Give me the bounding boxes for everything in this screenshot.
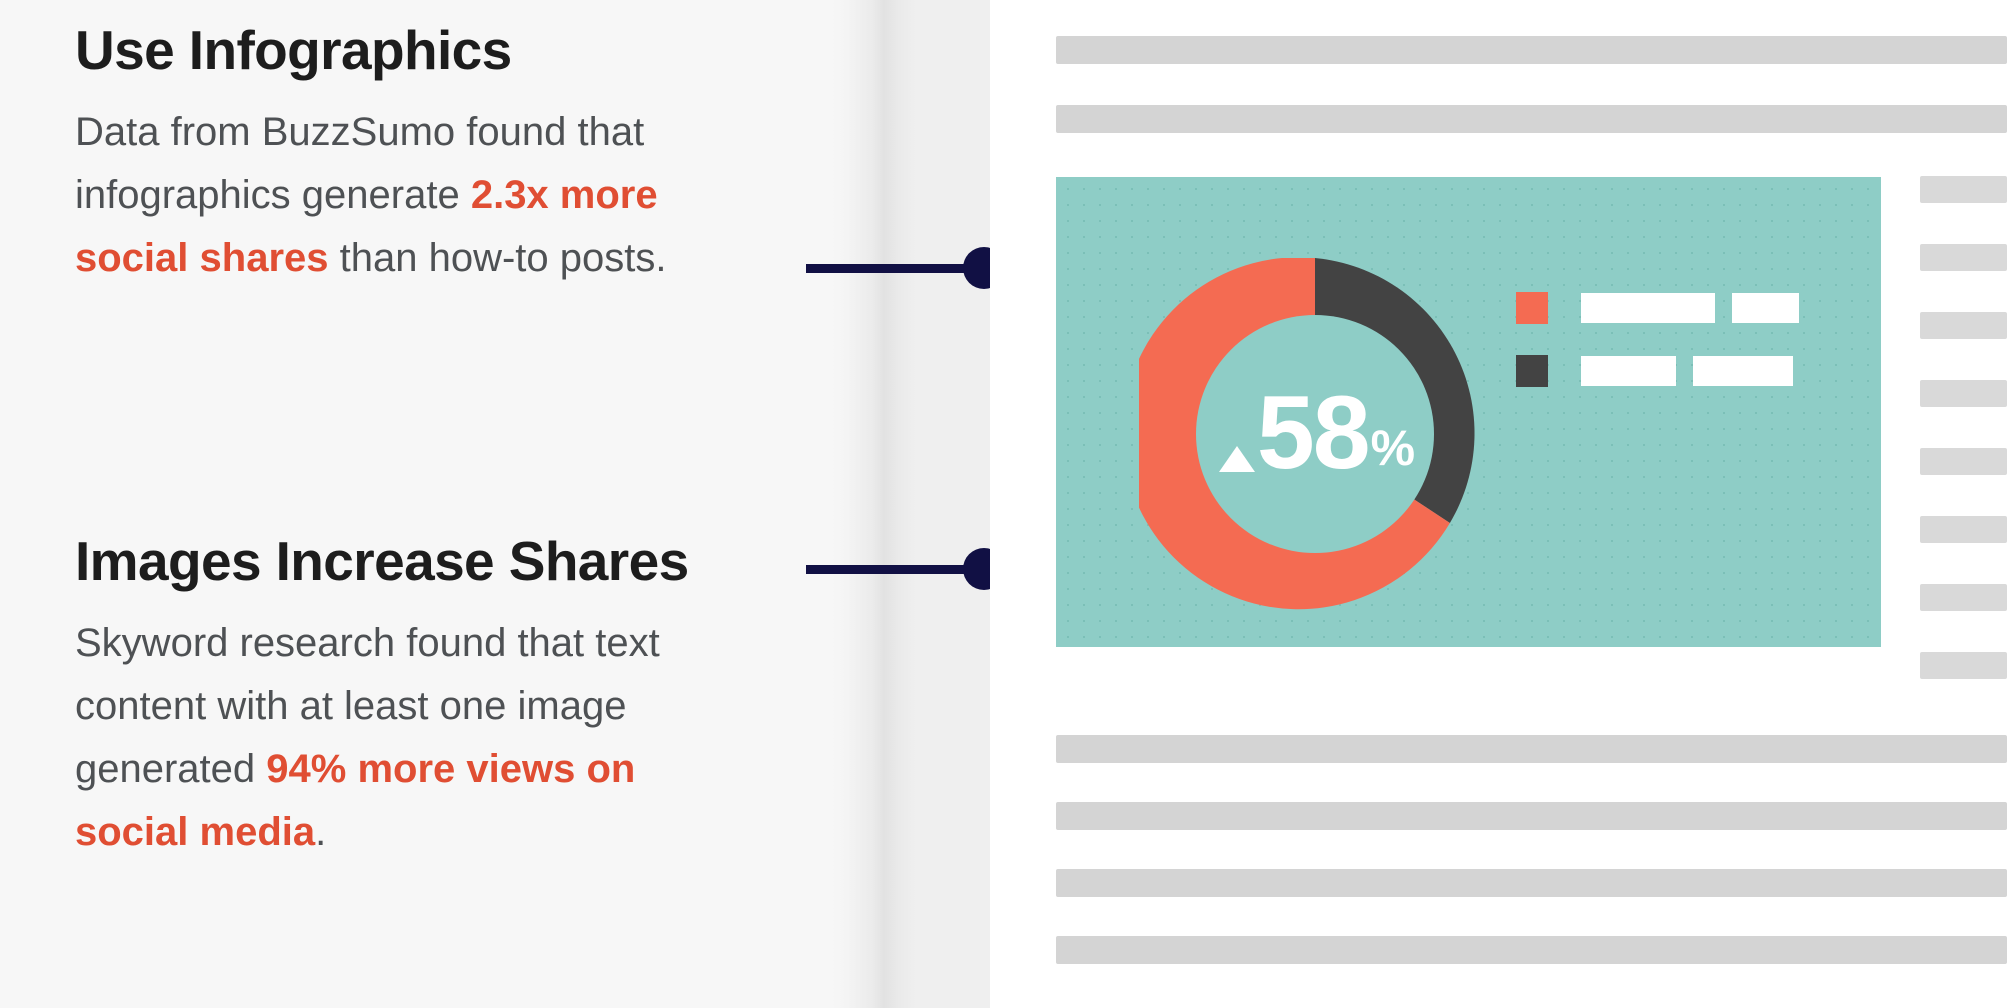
body-suffix: . bbox=[315, 810, 326, 854]
placeholder-bar-rail-4 bbox=[1920, 380, 2007, 407]
section-use-infographics: Use Infographics Data from BuzzSumo foun… bbox=[75, 14, 765, 290]
placeholder-bar-rail-3 bbox=[1920, 312, 2007, 339]
placeholder-bar-rail-1 bbox=[1920, 176, 2007, 203]
left-text-panel: Use Infographics Data from BuzzSumo foun… bbox=[0, 0, 832, 1008]
placeholder-bar-body-4 bbox=[1056, 936, 2007, 964]
placeholder-bar-header-2 bbox=[1056, 105, 2007, 133]
placeholder-bar-body-1 bbox=[1056, 735, 2007, 763]
connector-line-2 bbox=[806, 565, 986, 574]
placeholder-bar-rail-5 bbox=[1920, 448, 2007, 475]
donut-hole bbox=[1196, 315, 1434, 553]
page-title: Use Infographics bbox=[75, 14, 765, 87]
placeholder-bar-body-2 bbox=[1056, 802, 2007, 830]
chart-legend bbox=[1516, 292, 1846, 387]
legend-placeholder-bar-2b bbox=[1693, 356, 1793, 386]
placeholder-bar-rail-6 bbox=[1920, 516, 2007, 543]
connector-line-1 bbox=[806, 264, 986, 273]
section-heading-images: Images Increase Shares bbox=[75, 525, 765, 598]
placeholder-bar-header-1 bbox=[1056, 36, 2007, 64]
donut-chart-svg bbox=[1139, 258, 1491, 610]
placeholder-bar-rail-8 bbox=[1920, 652, 2007, 679]
page-fold-shadow bbox=[832, 0, 916, 1008]
section-body-use-infographics: Data from BuzzSumo found that infographi… bbox=[75, 101, 735, 289]
section-body-images: Skyword research found that text content… bbox=[75, 612, 735, 863]
placeholder-bar-rail-2 bbox=[1920, 244, 2007, 271]
document-mockup: 58 % bbox=[990, 0, 2007, 1008]
infographic-canvas: Use Infographics Data from BuzzSumo foun… bbox=[0, 0, 2007, 1008]
donut-chart: 58 % bbox=[1139, 258, 1491, 610]
placeholder-bar-rail-7 bbox=[1920, 584, 2007, 611]
section-images-increase-shares: Images Increase Shares Skyword research … bbox=[75, 525, 765, 863]
legend-placeholder-bar-1b bbox=[1732, 293, 1799, 323]
legend-placeholder-bar-1a bbox=[1581, 293, 1715, 323]
legend-placeholder-bar-2a bbox=[1581, 356, 1676, 386]
page-fold-band bbox=[916, 0, 990, 1008]
body-suffix: than how-to posts. bbox=[329, 236, 667, 280]
legend-entry-dark bbox=[1516, 355, 1846, 387]
legend-swatch-red bbox=[1516, 292, 1548, 324]
figure-card: 58 % bbox=[1056, 177, 1881, 647]
legend-entry-red bbox=[1516, 292, 1846, 324]
legend-swatch-dark bbox=[1516, 355, 1548, 387]
placeholder-bar-body-3 bbox=[1056, 869, 2007, 897]
